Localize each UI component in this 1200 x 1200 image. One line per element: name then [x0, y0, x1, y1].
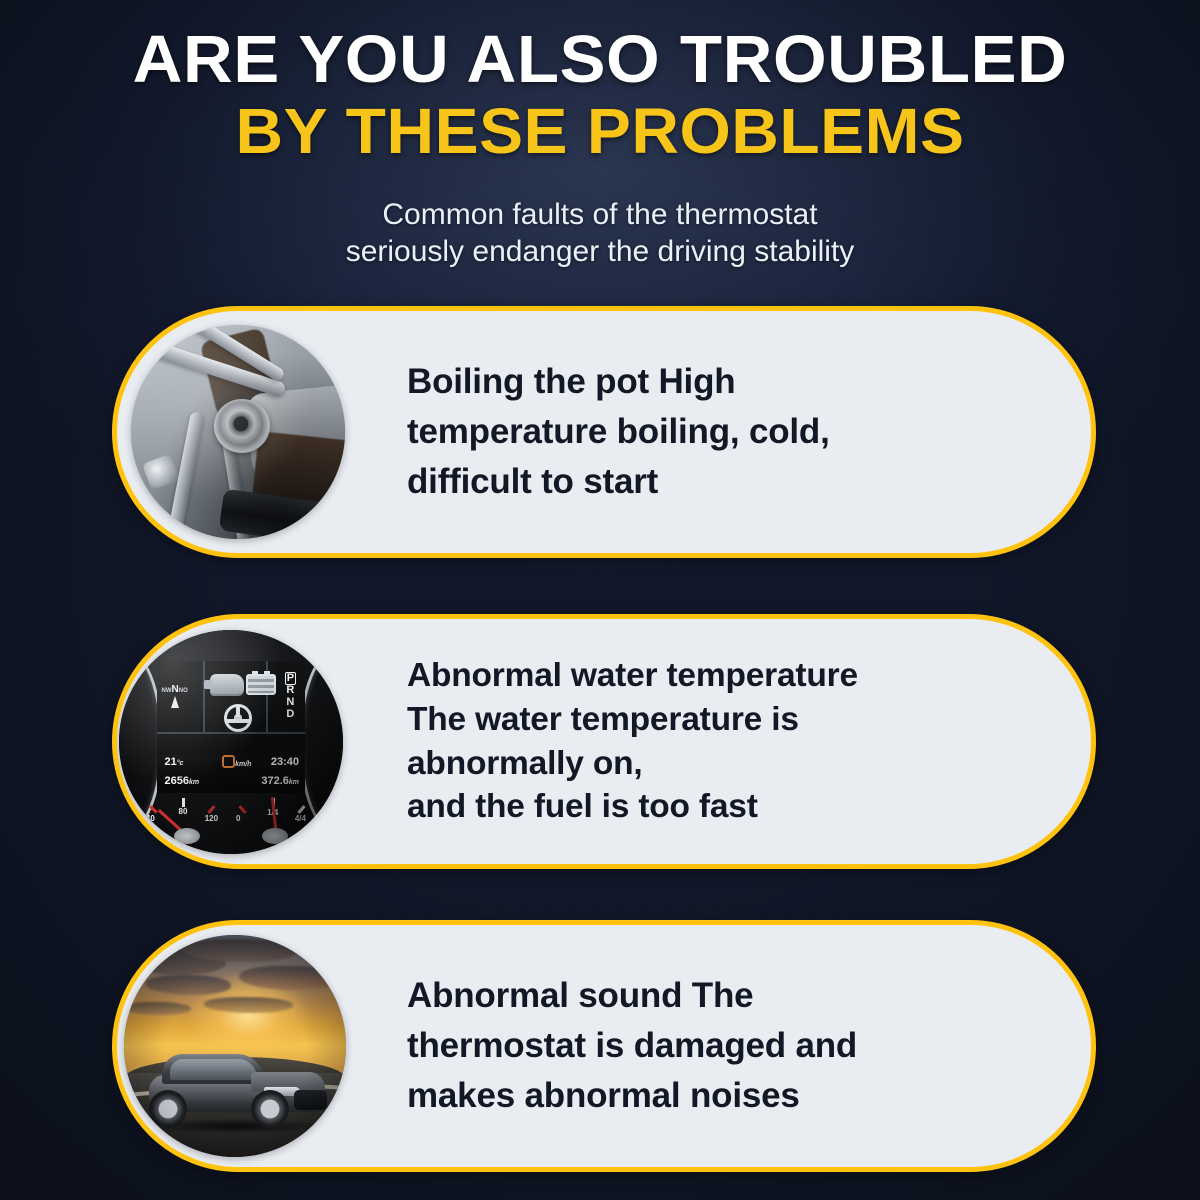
engine-bay-illustration — [131, 325, 345, 539]
car-sunset-illustration — [124, 935, 346, 1157]
problem-card-3[interactable]: Abnormal sound The thermostat is damaged… — [112, 920, 1096, 1172]
engine-bay-photo — [131, 325, 345, 539]
problem-card-3-text: Abnormal sound The thermostat is damaged… — [349, 971, 1091, 1120]
headline-block: ARE YOU ALSO TROUBLED BY THESE PROBLEMS — [0, 28, 1200, 163]
headline-line-2: BY THESE PROBLEMS — [0, 101, 1200, 162]
problem-card-1-line-3: difficult to start — [407, 457, 1051, 507]
subtitle-line-1: Common faults of the thermostat — [0, 196, 1200, 233]
problem-card-1-line-2: temperature boiling, cold, — [407, 407, 1051, 457]
problem-card-2-line-3: abnormally on, — [407, 742, 1051, 786]
headline-line-1: ARE YOU ALSO TROUBLED — [0, 28, 1200, 92]
problem-card-2-line-2: The water temperature is — [407, 698, 1051, 742]
instrument-cluster-photo: NWNNO PRND 21°c km/h — [119, 630, 343, 854]
problem-card-1[interactable]: Boiling the pot High temperature boiling… — [112, 306, 1096, 558]
problem-card-3-line-3: makes abnormal noises — [407, 1071, 1051, 1121]
problem-card-1-thumb-wrap — [117, 311, 349, 553]
subtitle-line-2: seriously endanger the driving stability — [0, 233, 1200, 270]
infographic-page: ARE YOU ALSO TROUBLED BY THESE PROBLEMS … — [0, 0, 1200, 1200]
problem-card-2-thumb-wrap: NWNNO PRND 21°c km/h — [117, 619, 349, 864]
problem-card-2-line-1: Abnormal water temperature — [407, 654, 1051, 698]
car-sunset-photo — [124, 935, 346, 1157]
problem-card-3-line-1: Abnormal sound The — [407, 971, 1051, 1021]
problem-card-3-thumb-wrap — [117, 925, 349, 1167]
problem-card-2[interactable]: NWNNO PRND 21°c km/h — [112, 614, 1096, 869]
instrument-cluster-illustration: NWNNO PRND 21°c km/h — [119, 630, 343, 854]
subtitle-block: Common faults of the thermostat seriousl… — [0, 196, 1200, 270]
problem-card-2-text: Abnormal water temperature The water tem… — [349, 654, 1091, 828]
problem-card-3-line-2: thermostat is damaged and — [407, 1021, 1051, 1071]
problem-card-2-line-4: and the fuel is too fast — [407, 785, 1051, 829]
problem-card-1-text: Boiling the pot High temperature boiling… — [349, 357, 1091, 506]
problem-card-1-line-1: Boiling the pot High — [407, 357, 1051, 407]
